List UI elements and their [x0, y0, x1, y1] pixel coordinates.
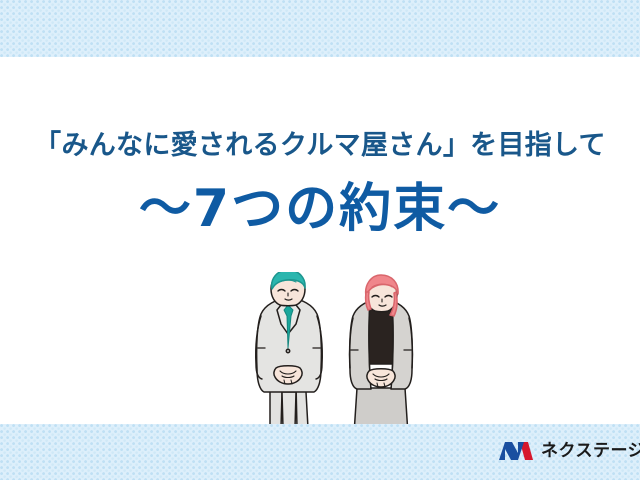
bowing-staff-graphic — [236, 272, 426, 428]
nextage-n-mark-icon — [498, 439, 534, 463]
headline-secondary: 〜7つの約束〜 — [0, 178, 640, 240]
nextage-logo: ネクステージ — [498, 438, 640, 464]
staff-illustration — [236, 272, 426, 428]
top-dot-band — [0, 0, 640, 57]
banner-canvas: 「みんなに愛されるクルマ屋さん」を目指して 〜7つの約束〜 — [0, 0, 640, 480]
female-staff-figure — [350, 275, 413, 428]
headline-primary: 「みんなに愛されるクルマ屋さん」を目指して — [0, 129, 640, 163]
brand-name-label: ネクステージ — [541, 439, 640, 463]
male-staff-figure — [256, 272, 323, 428]
